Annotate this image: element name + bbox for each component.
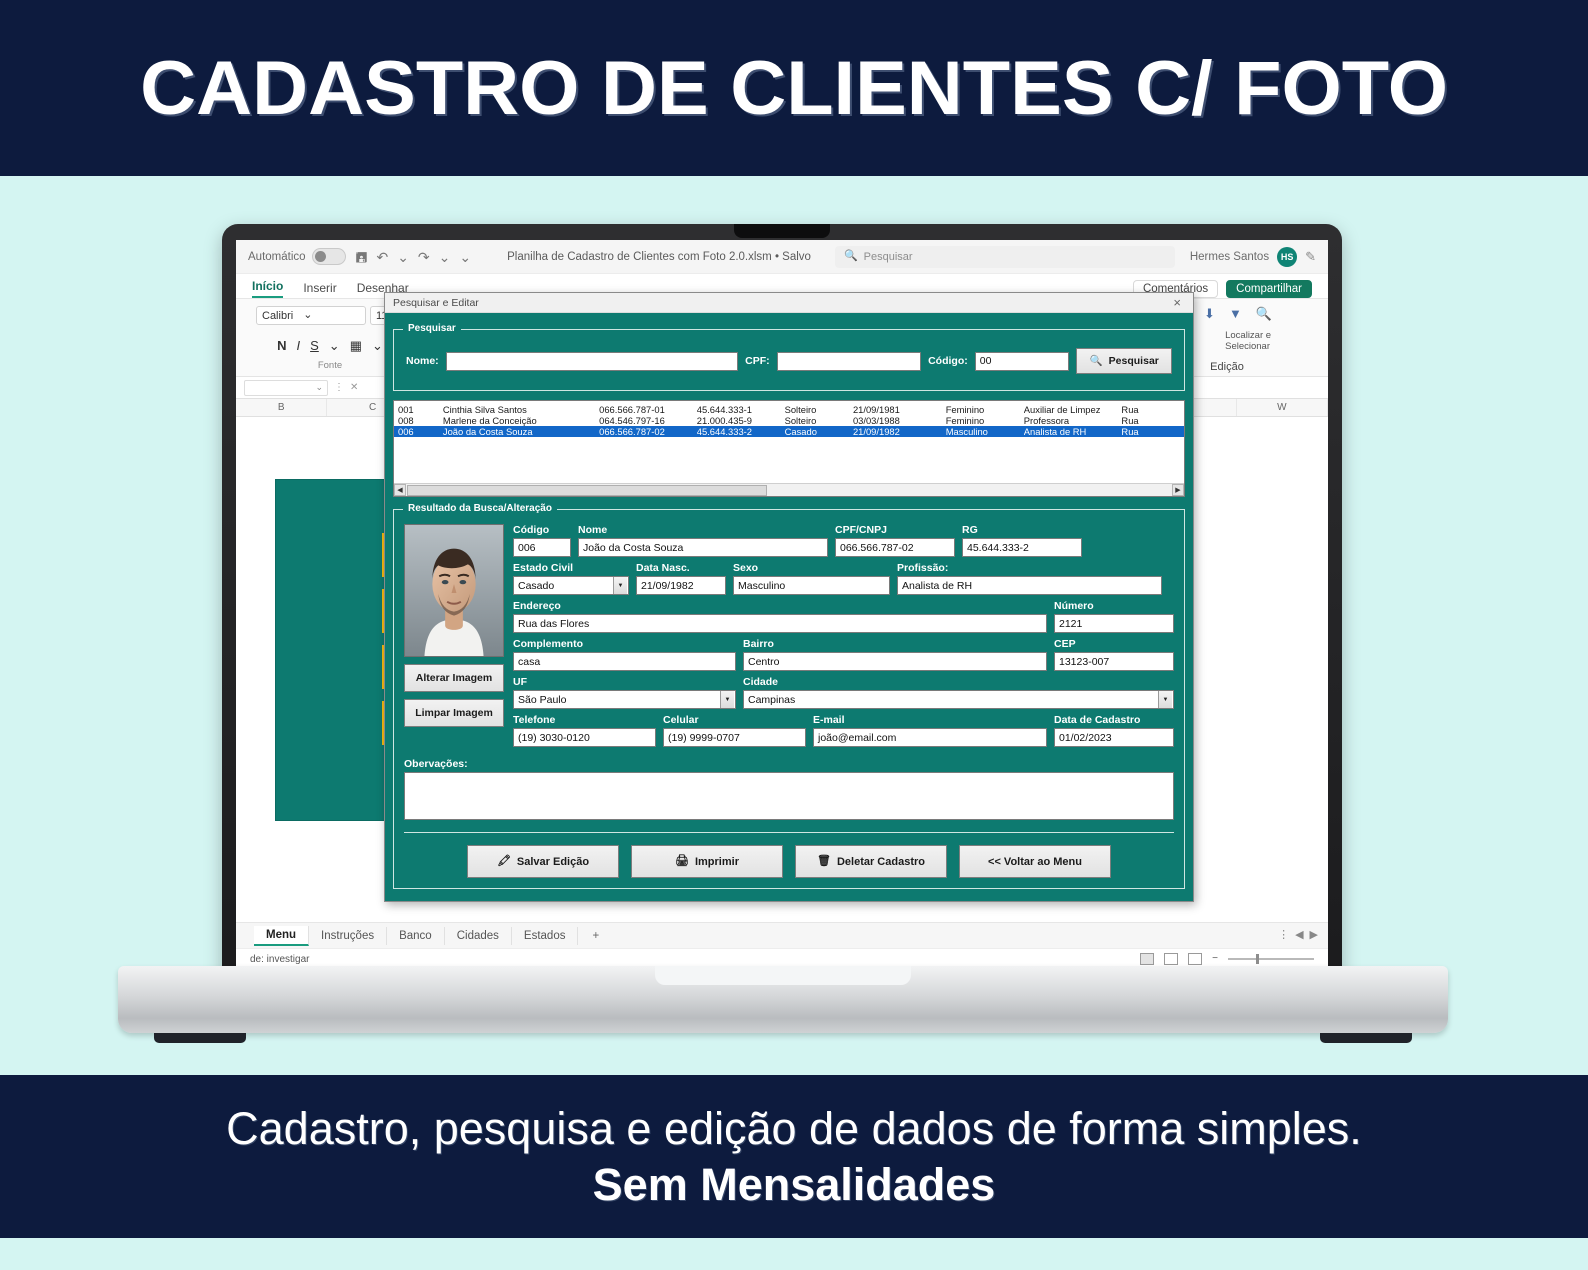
laptop-lid: Automático 🖪 ↶ ⌄ ↷ ⌄ ⌄ Planilha de Cadas… xyxy=(222,224,1342,999)
uf-value: São Paulo xyxy=(518,694,566,706)
ribbon-tab-inserir[interactable]: Inserir xyxy=(303,281,336,298)
rg-input[interactable]: 45.644.333-2 xyxy=(962,538,1082,557)
cell-cpf: 066.566.787-01 xyxy=(599,404,697,415)
codigo-input[interactable]: 006 xyxy=(513,538,571,557)
field-data-nasc: Data Nasc. 21/09/1982 xyxy=(636,562,726,595)
italic-button[interactable]: I xyxy=(296,338,300,353)
chevron-down-icon[interactable]: ▼ xyxy=(1158,691,1172,708)
add-sheet-button[interactable]: + xyxy=(578,927,613,945)
laptop-base xyxy=(118,966,1448,1033)
cell-nascimento: 21/09/1981 xyxy=(853,404,946,415)
page-break-view-icon[interactable] xyxy=(1188,953,1202,965)
deletar-cadastro-label: Deletar Cadastro xyxy=(837,856,925,868)
underline-button[interactable]: S xyxy=(310,338,319,353)
bottom-banner-line-2: Sem Mensalidades xyxy=(593,1159,996,1211)
dialog-title: Pesquisar e Editar xyxy=(393,297,479,309)
cell-rg: 45.644.333-2 xyxy=(697,426,785,437)
edit-group-label: Edição xyxy=(1210,361,1244,373)
cpf-search-input[interactable] xyxy=(777,352,921,371)
voltar-ao-menu-button[interactable]: << Voltar ao Menu xyxy=(959,845,1111,878)
field-cpf: CPF/CNPJ 066.566.787-02 xyxy=(835,524,955,557)
cell-nascimento: 03/03/1988 xyxy=(853,415,946,426)
toggle-switch-icon[interactable] xyxy=(312,248,346,265)
nome-input[interactable]: João da Costa Souza xyxy=(578,538,828,557)
endereco-field-label: Endereço xyxy=(513,600,1047,612)
scroll-right-icon[interactable]: ▶ xyxy=(1310,930,1318,941)
photo-column: Alterar Imagem Limpar Imagem xyxy=(404,524,504,752)
laptop-screen: Automático 🖪 ↶ ⌄ ↷ ⌄ ⌄ Planilha de Cadas… xyxy=(236,240,1328,968)
codigo-search-input[interactable]: 00 xyxy=(975,352,1070,371)
result-fieldset: Resultado da Busca/Alteração xyxy=(393,509,1185,889)
zoom-out-icon[interactable]: − xyxy=(1212,954,1218,964)
cell-rg: 45.644.333-1 xyxy=(697,404,785,415)
chevron-down-icon[interactable]: ⌄ xyxy=(329,339,340,352)
laptop-notch xyxy=(734,224,830,238)
complemento-input[interactable]: casa xyxy=(513,652,736,671)
laptop-foot-right xyxy=(1320,1033,1412,1043)
fill-icon[interactable]: ⬇ xyxy=(1204,307,1215,320)
cell-cpf: 066.566.787-02 xyxy=(599,426,697,437)
table-row[interactable]: 001 Cinthia Silva Santos 066.566.787-01 … xyxy=(394,404,1184,415)
search-icon: 🔍 xyxy=(844,251,858,262)
sexo-field-label: Sexo xyxy=(733,562,890,574)
cell-sexo: Masculino xyxy=(946,426,1024,437)
cell-nome: Marlene da Conceição xyxy=(443,415,599,426)
dialog-body: Pesquisar Nome: CPF: Código: 00 🔍 Pesqui… xyxy=(385,313,1193,897)
scroll-left-icon[interactable]: ◀ xyxy=(394,484,406,496)
cell-estado-civil: Casado xyxy=(785,426,853,437)
listbox-rows: 001 Cinthia Silva Santos 066.566.787-01 … xyxy=(394,401,1184,437)
find-select-label[interactable]: Localizar e Selecionar xyxy=(1225,330,1312,352)
estado-civil-value: Casado xyxy=(518,580,554,592)
chevron-down-icon[interactable]: ⌄ xyxy=(303,310,312,321)
cell-endereco: Rua xyxy=(1121,415,1180,426)
cell-codigo: 001 xyxy=(398,404,443,415)
email-input[interactable]: joão@email.com xyxy=(813,728,1047,747)
excel-search-placeholder: Pesquisar xyxy=(864,251,913,263)
estado-civil-field-label: Estado Civil xyxy=(513,562,629,574)
top-banner: CADASTRO DE CLIENTES C/ FOTO xyxy=(0,0,1588,176)
sheet-tab-instrucoes[interactable]: Instruções xyxy=(309,927,387,945)
chevron-down-icon[interactable]: ⌄ xyxy=(315,383,323,392)
page-layout-view-icon[interactable] xyxy=(1164,953,1178,965)
font-group-label: Fonte xyxy=(318,360,342,371)
excel-title-bar: Automático 🖪 ↶ ⌄ ↷ ⌄ ⌄ Planilha de Cadas… xyxy=(236,240,1328,274)
excel-status-area: Menu Instruções Banco Cidades Estados + … xyxy=(236,922,1328,968)
cell-profissao: Auxiliar de Limpez xyxy=(1024,404,1122,415)
edit-group-icons: Σ ⬇ ▼ 🔍 xyxy=(1182,303,1272,320)
field-codigo: Código 006 xyxy=(513,524,571,557)
telefone-field-label: Telefone xyxy=(513,714,656,726)
field-endereco: Endereço Rua das Flores xyxy=(513,600,1047,633)
user-account[interactable]: Hermes Santos HS ✎ xyxy=(1190,247,1316,267)
uf-field-label: UF xyxy=(513,676,736,688)
numero-field-label: Número xyxy=(1054,600,1174,612)
font-name-select[interactable]: Calibri ⌄ xyxy=(256,306,366,325)
field-nome: Nome João da Costa Souza xyxy=(578,524,828,557)
sheet-tab-estados[interactable]: Estados xyxy=(512,927,579,945)
bairro-input[interactable]: Centro xyxy=(743,652,1047,671)
data-nasc-input[interactable]: 21/09/1982 xyxy=(636,576,726,595)
user-name: Hermes Santos xyxy=(1190,251,1269,263)
autosave-toggle[interactable]: Automático xyxy=(248,248,346,265)
find-select-icon[interactable]: 🔍 xyxy=(1256,307,1272,320)
font-name-value: Calibri xyxy=(262,310,293,322)
bairro-field-label: Bairro xyxy=(743,638,1047,650)
celular-input[interactable]: (19) 9999-0707 xyxy=(663,728,806,747)
dialog-title-bar[interactable]: Pesquisar e Editar × xyxy=(385,293,1193,313)
listbox-horizontal-scrollbar[interactable]: ◀ ▶ xyxy=(394,483,1184,496)
deletar-cadastro-button[interactable]: 🗑 Deletar Cadastro xyxy=(795,845,947,878)
printer-icon: 🖨 xyxy=(675,856,689,867)
field-sexo: Sexo Masculino xyxy=(733,562,890,595)
field-row-2: Estado Civil Casado ▼ Data Nasc. 21/ xyxy=(513,562,1174,595)
cep-field-label: CEP xyxy=(1054,638,1174,650)
cell-cpf: 064.546.797-16 xyxy=(599,415,697,426)
data-cadastro-input[interactable]: 01/02/2023 xyxy=(1054,728,1174,747)
field-bairro: Bairro Centro xyxy=(743,638,1047,671)
cell-estado-civil: Solteiro xyxy=(785,415,853,426)
field-numero: Número 2121 xyxy=(1054,600,1174,633)
observacoes-label: Obervações: xyxy=(404,758,1174,770)
numero-input[interactable]: 2121 xyxy=(1054,614,1174,633)
more-options-icon[interactable]: ⋮ xyxy=(1278,930,1289,941)
pen-icon[interactable]: ✎ xyxy=(1305,249,1316,265)
pesquisar-button-label: Pesquisar xyxy=(1109,355,1159,367)
chevron-down-icon[interactable]: ⌄ xyxy=(439,250,451,264)
cell-codigo: 008 xyxy=(398,415,443,426)
field-data-cadastro: Data de Cadastro 01/02/2023 xyxy=(1054,714,1174,747)
cell-endereco: Rua xyxy=(1121,426,1180,437)
fields-column: Código 006 Nome João da Costa Souza CPF/… xyxy=(513,524,1174,752)
sexo-input[interactable]: Masculino xyxy=(733,576,890,595)
laptop-mockup: Automático 🖪 ↶ ⌄ ↷ ⌄ ⌄ Planilha de Cadas… xyxy=(0,176,1588,1075)
bottom-banner: Cadastro, pesquisa e edição de dados de … xyxy=(0,1075,1588,1238)
profissao-input[interactable]: Analista de RH xyxy=(897,576,1162,595)
alterar-imagem-button[interactable]: Alterar Imagem xyxy=(404,664,504,692)
cpf-label: CPF: xyxy=(745,355,770,367)
result-inner: Alterar Imagem Limpar Imagem Código 006 xyxy=(404,524,1174,752)
pesquisar-button[interactable]: 🔍 Pesquisar xyxy=(1076,348,1172,374)
search-icon: 🔍 xyxy=(1090,356,1103,367)
cidade-value: Campinas xyxy=(748,694,795,706)
undo-icon[interactable]: ↶ xyxy=(376,250,388,264)
scrollbar-thumb[interactable] xyxy=(407,485,767,496)
sheet-tab-menu[interactable]: Menu xyxy=(254,926,309,946)
celular-field-label: Celular xyxy=(663,714,806,726)
nome-field-label: Nome xyxy=(578,524,828,536)
salvar-edicao-label: Salvar Edição xyxy=(517,856,589,868)
search-row: Nome: CPF: Código: 00 🔍 Pesquisar xyxy=(404,344,1174,380)
quick-access-toolbar[interactable]: 🖪 ↶ ⌄ ↷ ⌄ ⌄ xyxy=(356,250,472,264)
ribbon-tab-inicio[interactable]: Início xyxy=(252,279,283,298)
normal-view-icon[interactable] xyxy=(1140,953,1154,965)
font-style-buttons: N I S ⌄ ▦ ⌄ xyxy=(277,338,383,353)
field-cep: CEP 13123-007 xyxy=(1054,638,1174,671)
close-icon[interactable]: × xyxy=(1169,296,1185,309)
excel-search-box[interactable]: 🔍 Pesquisar xyxy=(835,246,1175,268)
name-box[interactable]: ⌄ xyxy=(244,380,328,396)
cpf-field-label: CPF/CNPJ xyxy=(835,524,955,536)
redo-icon[interactable]: ↷ xyxy=(418,250,430,264)
cell-profissao: Analista de RH xyxy=(1024,426,1122,437)
estado-civil-select[interactable]: Casado ▼ xyxy=(513,576,629,595)
complemento-field-label: Complemento xyxy=(513,638,736,650)
fx-icon[interactable]: ⋮ xyxy=(334,382,344,393)
field-complemento: Complemento casa xyxy=(513,638,736,671)
cell-sexo: Feminino xyxy=(946,404,1024,415)
table-row[interactable]: 008 Marlene da Conceição 064.546.797-16 … xyxy=(394,415,1184,426)
trash-icon: 🗑 xyxy=(817,856,831,867)
search-fieldset: Pesquisar Nome: CPF: Código: 00 🔍 Pesqui… xyxy=(393,329,1185,391)
cidade-select[interactable]: Campinas ▼ xyxy=(743,690,1174,709)
result-fieldset-legend: Resultado da Busca/Alteração xyxy=(403,503,557,514)
formula-input[interactable]: ✕ xyxy=(350,382,358,393)
cell-codigo: 006 xyxy=(398,426,443,437)
sheet-scroll-controls: ⋮ ◀ ▶ xyxy=(1278,930,1328,941)
field-telefone: Telefone (19) 3030-0120 xyxy=(513,714,656,747)
codigo-field-label: Código xyxy=(513,524,571,536)
search-fieldset-legend: Pesquisar xyxy=(403,323,461,334)
share-button[interactable]: Compartilhar xyxy=(1226,280,1312,298)
sort-filter-icon[interactable]: ▼ xyxy=(1229,307,1242,320)
dialog-footer-buttons: 🖍 Salvar Edição 🖨 Imprimir 🗑 Deletar Cad… xyxy=(404,832,1174,878)
nome-label: Nome: xyxy=(406,355,439,367)
profissao-field-label: Profissão: xyxy=(897,562,1162,574)
field-estado-civil: Estado Civil Casado ▼ xyxy=(513,562,629,595)
cell-nome: Cinthia Silva Santos xyxy=(443,404,599,415)
telefone-input[interactable]: (19) 3030-0120 xyxy=(513,728,656,747)
column-header-b[interactable]: B xyxy=(236,399,327,416)
field-row-3: Endereço Rua das Flores Número 2121 xyxy=(513,600,1174,633)
laptop-foot-left xyxy=(154,1033,246,1043)
cep-input[interactable]: 13123-007 xyxy=(1054,652,1174,671)
uf-select[interactable]: São Paulo ▼ xyxy=(513,690,736,709)
imprimir-label: Imprimir xyxy=(695,856,739,868)
chevron-down-icon[interactable]: ▼ xyxy=(720,691,734,708)
data-cadastro-field-label: Data de Cadastro xyxy=(1054,714,1174,726)
field-rg: RG 45.644.333-2 xyxy=(962,524,1082,557)
cpf-input[interactable]: 066.566.787-02 xyxy=(835,538,955,557)
zoom-slider[interactable] xyxy=(1228,958,1314,960)
cell-rg: 21.000.435-9 xyxy=(697,415,785,426)
scroll-left-icon[interactable]: ◀ xyxy=(1295,930,1303,941)
status-view-controls: − xyxy=(1140,953,1314,965)
chevron-down-icon[interactable]: ⌄ xyxy=(397,250,409,264)
sheet-tab-cidades[interactable]: Cidades xyxy=(445,927,512,945)
nome-search-input[interactable] xyxy=(446,352,738,371)
sheet-tab-banco[interactable]: Banco xyxy=(387,927,445,945)
field-email: E-mail joão@email.com xyxy=(813,714,1047,747)
observacoes-textarea[interactable] xyxy=(404,772,1174,820)
save-icon[interactable]: 🖪 xyxy=(356,250,368,264)
client-photo xyxy=(404,524,504,657)
avatar[interactable]: HS xyxy=(1277,247,1297,267)
autosave-label: Automático xyxy=(248,251,306,263)
endereco-input[interactable]: Rua das Flores xyxy=(513,614,1047,633)
cell-sexo: Feminino xyxy=(946,415,1024,426)
more-commands-icon[interactable]: ⌄ xyxy=(459,250,471,264)
sheet-tab-bar: Menu Instruções Banco Cidades Estados + … xyxy=(236,923,1328,949)
field-row-4: Complemento casa Bairro Centro CEP xyxy=(513,638,1174,671)
limpar-imagem-button[interactable]: Limpar Imagem xyxy=(404,699,504,727)
field-cidade: Cidade Campinas ▼ xyxy=(743,676,1174,709)
page-title: CADASTRO DE CLIENTES C/ FOTO xyxy=(140,45,1448,132)
status-text: de: investigar xyxy=(250,954,309,965)
pencil-icon: 🖍 xyxy=(497,856,511,867)
borders-icon[interactable]: ▦ xyxy=(350,339,362,352)
field-uf: UF São Paulo ▼ xyxy=(513,676,736,709)
codigo-label: Código: xyxy=(928,355,968,367)
field-celular: Celular (19) 9999-0707 xyxy=(663,714,806,747)
cell-estado-civil: Solteiro xyxy=(785,404,853,415)
document-name: Planilha de Cadastro de Clientes com Fot… xyxy=(507,251,811,263)
cell-endereco: Rua xyxy=(1121,404,1180,415)
pesquisar-editar-dialog: Pesquisar e Editar × Pesquisar Nome: CPF… xyxy=(384,292,1194,902)
data-nasc-field-label: Data Nasc. xyxy=(636,562,726,574)
table-row-selected[interactable]: 006 João da Costa Souza 066.566.787-02 4… xyxy=(394,426,1184,437)
bold-button[interactable]: N xyxy=(277,338,286,353)
results-listbox[interactable]: 001 Cinthia Silva Santos 066.566.787-01 … xyxy=(393,400,1185,497)
cell-nome: João da Costa Souza xyxy=(443,426,599,437)
cell-nascimento: 21/09/1982 xyxy=(853,426,946,437)
salvar-edicao-button[interactable]: 🖍 Salvar Edição xyxy=(467,845,619,878)
bottom-banner-line-1: Cadastro, pesquisa e edição de dados de … xyxy=(226,1103,1362,1155)
column-header-w[interactable]: W xyxy=(1237,399,1328,416)
cidade-field-label: Cidade xyxy=(743,676,1174,688)
scroll-right-icon[interactable]: ▶ xyxy=(1172,484,1184,496)
cell-profissao: Professora xyxy=(1024,415,1122,426)
field-row-1: Código 006 Nome João da Costa Souza CPF/… xyxy=(513,524,1174,557)
font-controls-row: Calibri ⌄ 11 xyxy=(256,306,404,325)
field-profissao: Profissão: Analista de RH xyxy=(897,562,1162,595)
chevron-down-icon[interactable]: ▼ xyxy=(613,577,627,594)
rg-field-label: RG xyxy=(962,524,1082,536)
chevron-down-icon[interactable]: ⌄ xyxy=(372,339,383,352)
portrait-illustration xyxy=(405,525,503,656)
field-row-6: Telefone (19) 3030-0120 Celular (19) 999… xyxy=(513,714,1174,747)
email-field-label: E-mail xyxy=(813,714,1047,726)
field-row-5: UF São Paulo ▼ Cidade xyxy=(513,676,1174,709)
imprimir-button[interactable]: 🖨 Imprimir xyxy=(631,845,783,878)
